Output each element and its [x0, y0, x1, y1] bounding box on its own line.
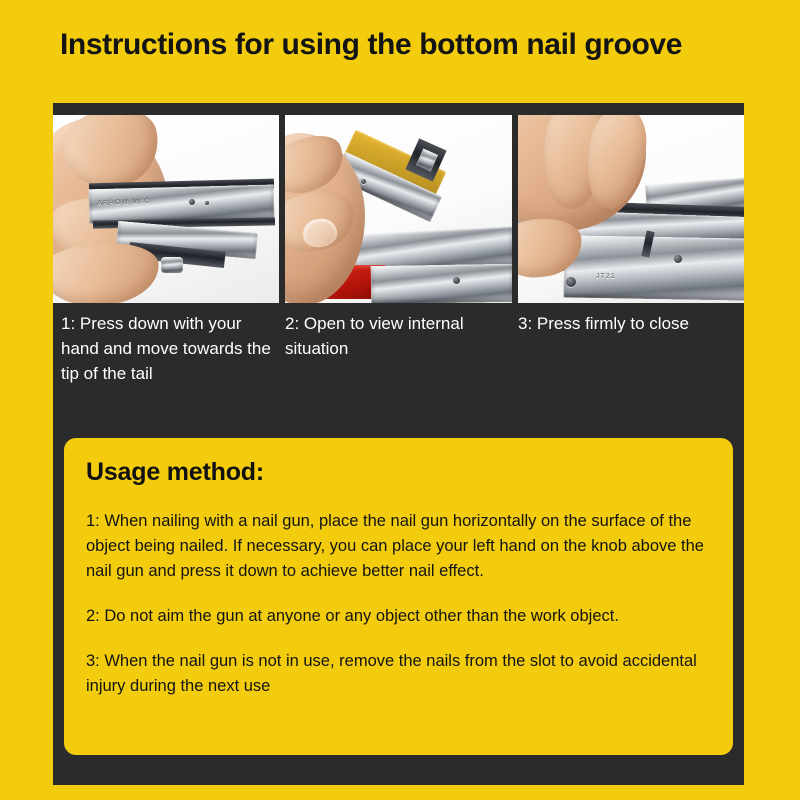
- tool-rivet: [205, 201, 209, 205]
- tool-rivet: [674, 255, 682, 263]
- usage-paragraph-3: 3: When the nail gun is not in use, remo…: [86, 649, 711, 699]
- tool-emboss-text: JT21: [596, 273, 616, 280]
- step-photo-3: JT21: [518, 115, 744, 303]
- instruction-poster: Instructions for using the bottom nail g…: [0, 0, 800, 800]
- tool-body-base: [371, 264, 512, 303]
- step-caption-3: 3: Press firmly to close: [518, 311, 744, 431]
- tool-base-plate: [563, 235, 744, 300]
- tool-rivet: [566, 277, 576, 287]
- usage-paragraph-1: 1: When nailing with a nail gun, place t…: [86, 509, 711, 584]
- usage-method-card: Usage method: 1: When nailing with a nai…: [64, 438, 733, 755]
- step-caption-1: 1: Press down with your hand and move to…: [53, 311, 285, 431]
- step-photo-1: ARROW MFG: [53, 115, 279, 303]
- step-caption-2: 2: Open to view internal situation: [285, 311, 518, 431]
- step-photo-2: [285, 115, 511, 303]
- photo-strip: ARROW MFG: [53, 115, 744, 303]
- caption-row: 1: Press down with your hand and move to…: [53, 311, 744, 431]
- dark-content-panel: ARROW MFG: [53, 103, 744, 785]
- tool-rivet: [189, 199, 195, 205]
- page-title: Instructions for using the bottom nail g…: [60, 28, 760, 62]
- usage-method-heading: Usage method:: [86, 458, 711, 487]
- usage-paragraph-2: 2: Do not aim the gun at anyone or any o…: [86, 604, 711, 629]
- tool-knob: [161, 257, 183, 273]
